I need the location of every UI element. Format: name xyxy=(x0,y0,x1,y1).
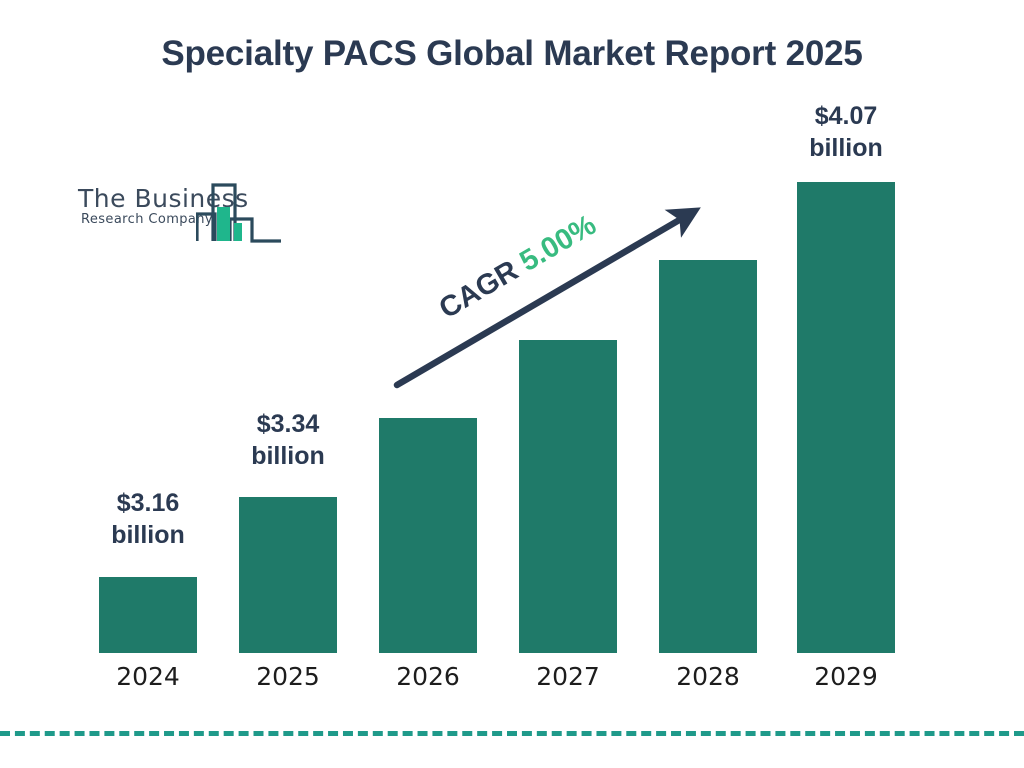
footer-divider xyxy=(0,731,1024,736)
x-axis-tick-2028: 2028 xyxy=(638,662,778,691)
cagr-value: 5.00% xyxy=(515,209,602,278)
bar-2024 xyxy=(99,577,197,653)
x-axis-tick-2026: 2026 xyxy=(358,662,498,691)
bar-chart-plot: $3.16 billion $3.34 billion $4.07 billio… xyxy=(0,0,1024,768)
bar-2029 xyxy=(797,182,895,653)
bar-2025 xyxy=(239,497,337,653)
cagr-label: CAGR xyxy=(434,254,524,325)
bar-2027 xyxy=(519,340,617,653)
bar-value-label-2024: $3.16 billion xyxy=(78,487,218,551)
x-axis-tick-2025: 2025 xyxy=(218,662,358,691)
x-axis-tick-2027: 2027 xyxy=(498,662,638,691)
bar-value-label-2029: $4.07 billion xyxy=(776,100,916,164)
x-axis-tick-2029: 2029 xyxy=(776,662,916,691)
bar-value-label-2025: $3.34 billion xyxy=(218,408,358,472)
bar-2028 xyxy=(659,260,757,653)
x-axis-tick-2024: 2024 xyxy=(78,662,218,691)
chart-page: Specialty PACS Global Market Report 2025… xyxy=(0,0,1024,768)
cagr-annotation: CAGR 5.00% xyxy=(410,195,625,340)
bar-2026 xyxy=(379,418,477,653)
